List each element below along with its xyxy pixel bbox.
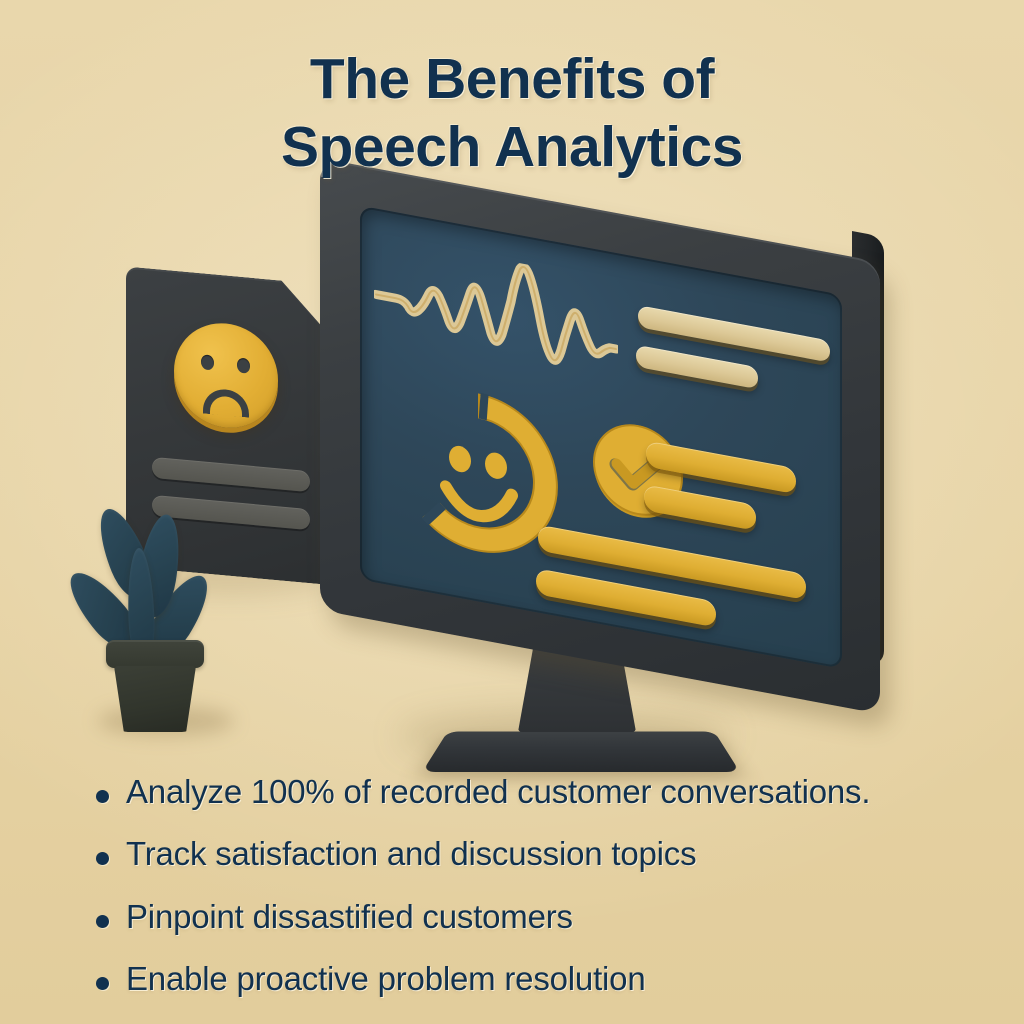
monitor-screen xyxy=(360,206,842,669)
bullet-dot-icon xyxy=(96,790,109,803)
sad-face-icon xyxy=(174,319,278,432)
sad-face-mouth xyxy=(203,387,249,417)
audio-waveform-icon xyxy=(374,236,618,387)
benefits-list: Analyze 100% of recorded customer conver… xyxy=(96,772,976,1021)
check-circle-badge xyxy=(588,416,688,535)
list-item: Enable proactive problem resolution xyxy=(96,959,976,999)
plant-pot-body xyxy=(114,666,196,732)
title-line-1: The Benefits of xyxy=(0,46,1024,114)
desktop-monitor xyxy=(306,196,896,776)
monitor-base xyxy=(422,731,740,772)
text-bar-cream-2 xyxy=(636,345,758,390)
potted-plant xyxy=(82,500,232,732)
bullet-dot-icon xyxy=(96,977,109,990)
bullet-dot-icon xyxy=(96,915,109,928)
plant-pot xyxy=(106,640,204,732)
list-item-label: Pinpoint dissastified customers xyxy=(126,897,573,937)
page-title: The Benefits of Speech Analytics xyxy=(0,46,1024,182)
list-item: Analyze 100% of recorded customer conver… xyxy=(96,772,976,812)
sad-face-left-eye xyxy=(201,354,214,370)
bullet-dot-icon xyxy=(96,852,109,865)
speech-analytics-poster: The Benefits of Speech Analytics xyxy=(0,0,1024,1024)
list-item: Pinpoint dissastified customers xyxy=(96,897,976,937)
list-item-label: Analyze 100% of recorded customer conver… xyxy=(126,772,870,812)
list-item: Track satisfaction and discussion topics xyxy=(96,834,976,874)
plant-pot-rim xyxy=(106,640,204,668)
sad-face-right-eye xyxy=(237,358,250,374)
list-item-label: Enable proactive problem resolution xyxy=(126,959,645,999)
title-line-2: Speech Analytics xyxy=(0,114,1024,182)
monitor-frame xyxy=(320,158,880,714)
document-text-line-1 xyxy=(152,457,310,492)
list-item-label: Track satisfaction and discussion topics xyxy=(126,834,696,874)
